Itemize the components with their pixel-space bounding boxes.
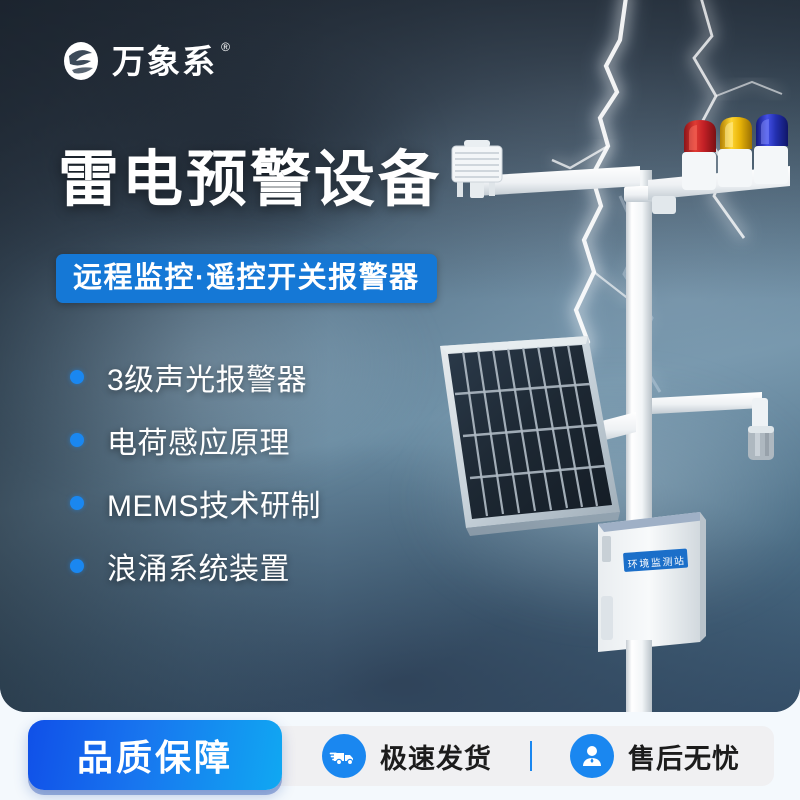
brand-logo: 万象系 ® xyxy=(60,40,217,82)
trust-item-aftersales[interactable]: 售后无忧 xyxy=(570,734,740,778)
bullet-dot-icon xyxy=(70,559,84,573)
solar-panel xyxy=(440,336,620,536)
list-item: 电荷感应原理 xyxy=(70,408,321,471)
bullet-dot-icon xyxy=(70,370,84,384)
quality-guarantee-badge[interactable]: 品质保障 xyxy=(28,720,282,790)
brand-name: 万象系 xyxy=(112,43,217,80)
delivery-truck-icon xyxy=(322,734,366,778)
subtitle-badge: 远程监控·遥控开关报警器 xyxy=(56,254,437,303)
list-item: MEMS技术研制 xyxy=(70,471,321,534)
camera-sensor xyxy=(748,426,774,460)
feature-label: MEMS技术研制 xyxy=(107,481,321,525)
control-box: 环境监测站 xyxy=(598,512,706,652)
trust-item-shipping[interactable]: 极速发货 xyxy=(322,734,492,778)
swoosh-circle-logo-icon xyxy=(60,40,102,82)
blue-alarm-light xyxy=(754,114,788,184)
feature-label: 3级声光报警器 xyxy=(107,355,307,399)
camera-arm xyxy=(652,392,768,430)
trust-label: 极速发货 xyxy=(380,737,492,776)
trust-divider xyxy=(530,741,532,771)
page-title: 雷电预警设备 xyxy=(58,147,442,211)
bullet-dot-icon xyxy=(70,433,84,447)
feature-label: 浪涌系统装置 xyxy=(107,544,290,588)
feature-list: 3级声光报警器 电荷感应原理 MEMS技术研制 浪涌系统装置 xyxy=(70,345,321,597)
feature-label: 电荷感应原理 xyxy=(107,418,290,462)
hero-banner: 环境监测站 万象系 ® 雷电预警设备 远程监控·遥控开关报警器 xyxy=(0,0,800,712)
trust-label: 售后无忧 xyxy=(628,737,740,776)
bullet-dot-icon xyxy=(70,496,84,510)
trust-bar-container: 极速发货 售后无忧 品质保障 xyxy=(0,712,800,800)
brand-name-text: 万象系 ® xyxy=(112,45,217,78)
list-item: 浪涌系统装置 xyxy=(70,534,321,597)
list-item: 3级声光报警器 xyxy=(70,345,321,408)
customer-service-icon xyxy=(570,734,614,778)
trademark-symbol: ® xyxy=(221,41,232,53)
red-alarm-light xyxy=(682,120,716,190)
mast-pole-lower xyxy=(626,640,652,712)
yellow-alarm-light xyxy=(718,117,752,187)
advertisement-page: 环境监测站 万象系 ® 雷电预警设备 远程监控·遥控开关报警器 xyxy=(0,0,800,800)
